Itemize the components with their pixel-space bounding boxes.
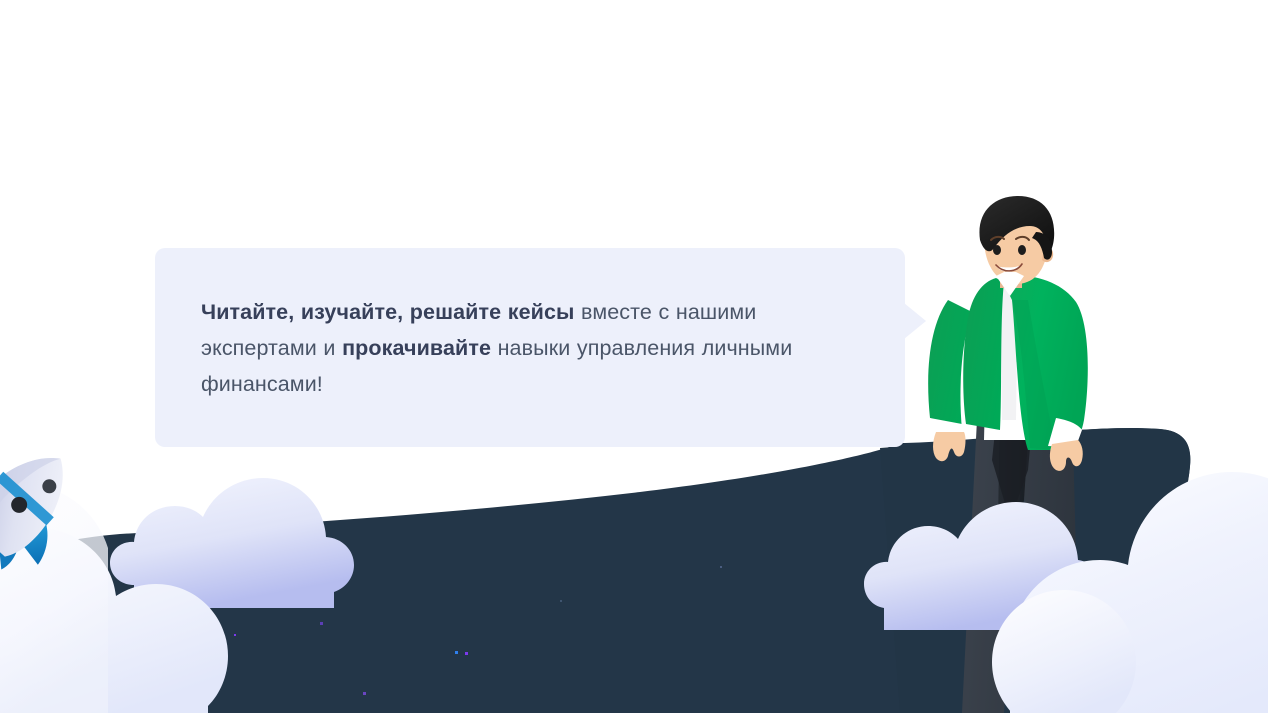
bubble-text-bold-1: Читайте, изучайте, решайте кейсы: [201, 300, 574, 324]
speech-bubble: Читайте, изучайте, решайте кейсы вместе …: [155, 248, 905, 447]
speech-bubble-tail: [904, 303, 926, 339]
speech-bubble-text: Читайте, изучайте, решайте кейсы вместе …: [201, 294, 821, 402]
bubble-text-regular-1: вместе с: [574, 300, 669, 324]
bubble-text-regular-3: навыки: [491, 336, 570, 360]
slide-canvas: Читайте, изучайте, решайте кейсы вместе …: [0, 0, 1268, 713]
bubble-text-bold-2: прокачивайте: [342, 336, 491, 360]
